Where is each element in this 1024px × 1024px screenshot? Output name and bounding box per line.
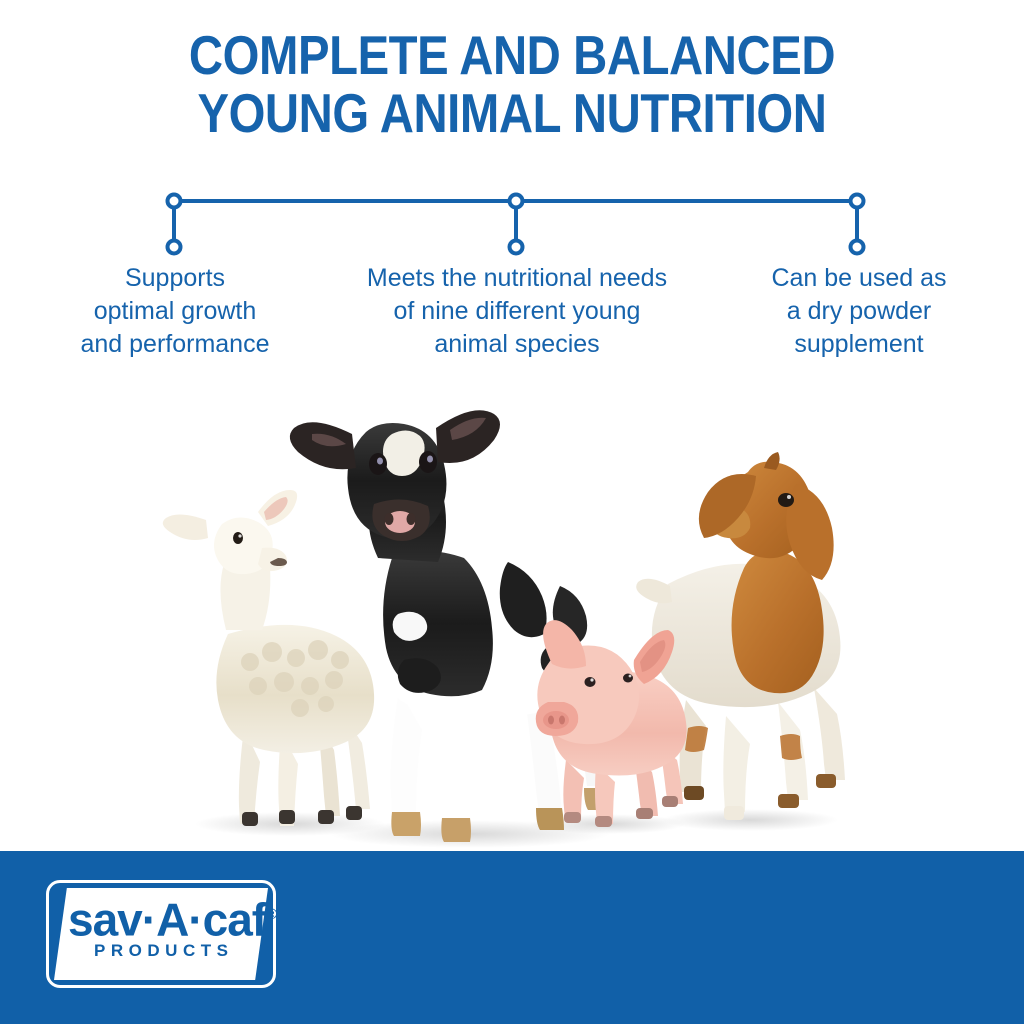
headline-line-1: COMPLETE AND BALANCED	[72, 26, 953, 84]
headline-line-2: YOUNG ANIMAL NUTRITION	[72, 84, 953, 142]
feature-1-line-3: animal species	[320, 328, 714, 361]
feature-dry-powder-supplement: Can be used as a dry powder supplement	[728, 262, 990, 361]
feature-2-line-1: Can be used as	[728, 262, 990, 295]
feature-supports-optimal-growth: Supports optimal growth and performance	[44, 262, 306, 361]
connector-node-top-center	[510, 195, 523, 208]
brand-logo[interactable]: sav·A·caf® PRODUCTS	[46, 880, 276, 988]
bracket-connector	[0, 185, 1024, 265]
page-title: COMPLETE AND BALANCED YOUNG ANIMAL NUTRI…	[72, 26, 953, 142]
promo-graphic: COMPLETE AND BALANCED YOUNG ANIMAL NUTRI…	[0, 0, 1024, 1024]
connector-node-bottom-right	[851, 241, 864, 254]
connector-node-top-left	[168, 195, 181, 208]
feature-0-line-2: optimal growth	[44, 295, 306, 328]
logo-subtitle: PRODUCTS	[68, 942, 254, 960]
feature-meets-nutritional-needs: Meets the nutritional needs of nine diff…	[320, 262, 714, 361]
feature-1-line-1: Meets the nutritional needs	[320, 262, 714, 295]
feature-list: Supports optimal growth and performance …	[0, 262, 1024, 372]
feature-2-line-2: a dry powder	[728, 295, 990, 328]
registered-trademark-icon: ®	[266, 906, 277, 923]
logo-wordmark: sav·A·caf®	[68, 892, 254, 942]
feature-0-line-3: and performance	[44, 328, 306, 361]
connector-node-bottom-left	[168, 241, 181, 254]
connector-node-bottom-center	[510, 241, 523, 254]
animal-lamb	[163, 490, 374, 826]
connector-node-top-right	[851, 195, 864, 208]
feature-2-line-3: supplement	[728, 328, 990, 361]
feature-0-line-1: Supports	[44, 262, 306, 295]
logo-wordmark-text: sav·A·caf	[68, 893, 266, 945]
animal-group-photo	[0, 372, 1024, 851]
feature-1-line-2: of nine different young	[320, 295, 714, 328]
